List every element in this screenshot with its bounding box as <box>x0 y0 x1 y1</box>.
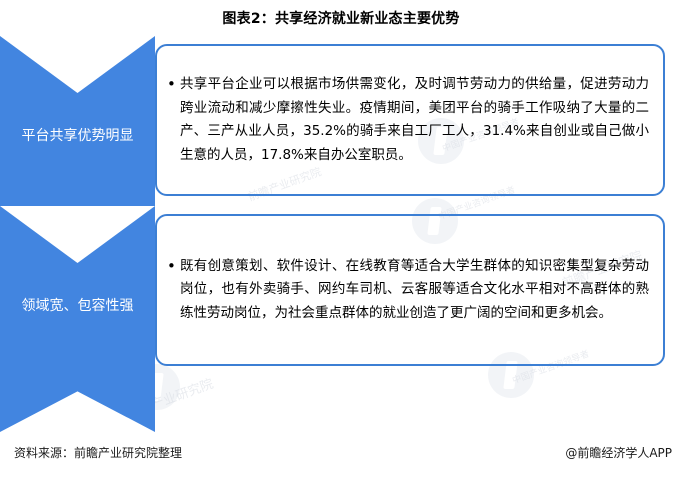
content-box-1: • 既有创意策划、软件设计、在线教育等适合大学生群体的知识密集型复杂劳动岗位，也… <box>155 214 665 366</box>
page-title: 图表2：共享经济就业新业态主要优势 <box>0 8 682 28</box>
brand-note: @前瞻经济学人APP <box>565 444 672 461</box>
advantage-row: 领域宽、包容性强 • 既有创意策划、软件设计、在线教育等适合大学生群体的知识密集… <box>0 206 682 368</box>
bullet-icon: • <box>167 73 180 97</box>
chevron-label-0: 平台共享优势明显 <box>12 126 144 147</box>
source-note: 资料来源：前瞻产业研究院整理 <box>14 444 182 461</box>
bullet-icon: • <box>167 255 180 279</box>
chevron-label-1: 领域宽、包容性强 <box>12 296 144 317</box>
footer: 资料来源：前瞻产业研究院整理 @前瞻经济学人APP <box>0 444 682 462</box>
advantage-row: 平台共享优势明显 • 共享平台企业可以根据市场供需变化，及时调节劳动力的供给量，… <box>0 36 682 198</box>
chevron-banner-1: 领域宽、包容性强 <box>0 206 155 432</box>
content-box-0: • 共享平台企业可以根据市场供需变化，及时调节劳动力的供给量，促进劳动力跨业流动… <box>155 44 665 196</box>
content-text-0: 共享平台企业可以根据市场供需变化，及时调节劳动力的供给量，促进劳动力跨业流动和减… <box>180 73 649 167</box>
content-text-1: 既有创意策划、软件设计、在线教育等适合大学生群体的知识密集型复杂劳动岗位，也有外… <box>180 255 649 326</box>
